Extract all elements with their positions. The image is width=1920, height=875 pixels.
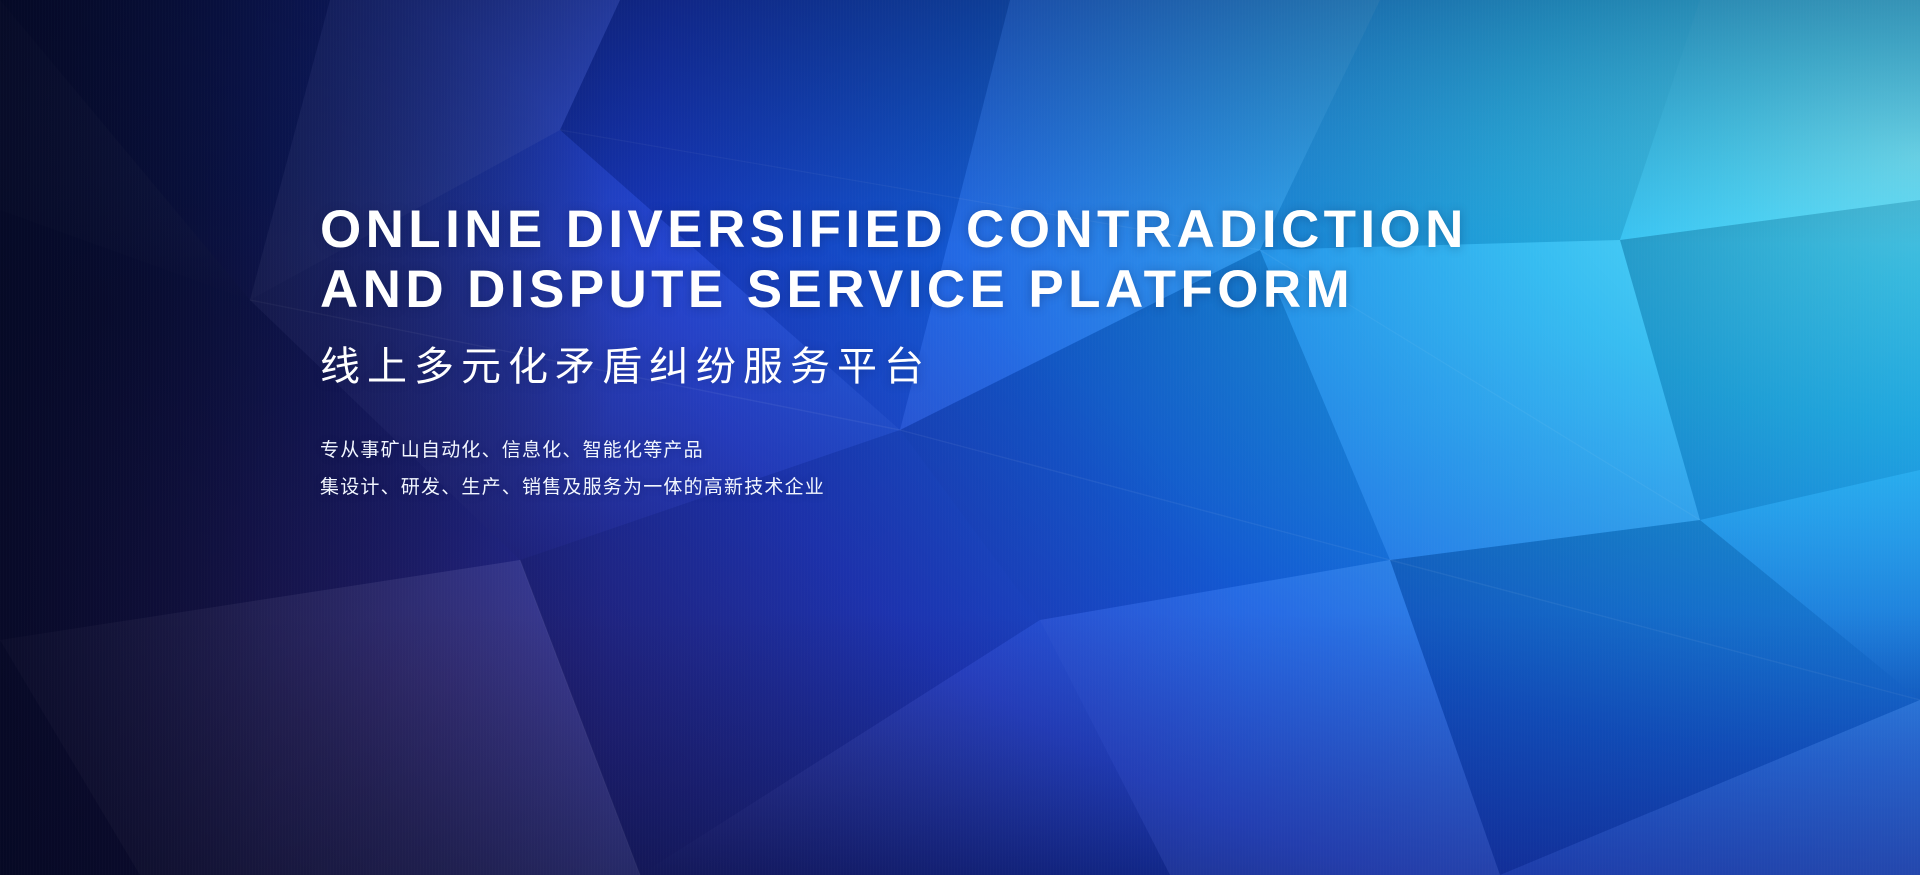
headline-line-2: AND DISPUTE SERVICE PLATFORM — [320, 260, 1620, 320]
description-line-1: 专从事矿山自动化、信息化、智能化等产品 — [320, 432, 1620, 469]
hero-banner: ONLINE DIVERSIFIED CONTRADICTION AND DIS… — [0, 0, 1920, 875]
headline-line-1: ONLINE DIVERSIFIED CONTRADICTION — [320, 200, 1620, 260]
description-block: 专从事矿山自动化、信息化、智能化等产品 集设计、研发、生产、销售及服务为一体的高… — [320, 432, 1620, 506]
description-line-2: 集设计、研发、生产、销售及服务为一体的高新技术企业 — [320, 469, 1620, 506]
subtitle-chinese: 线上多元化矛盾纠纷服务平台 — [320, 344, 1620, 390]
banner-text-block: ONLINE DIVERSIFIED CONTRADICTION AND DIS… — [320, 200, 1620, 506]
